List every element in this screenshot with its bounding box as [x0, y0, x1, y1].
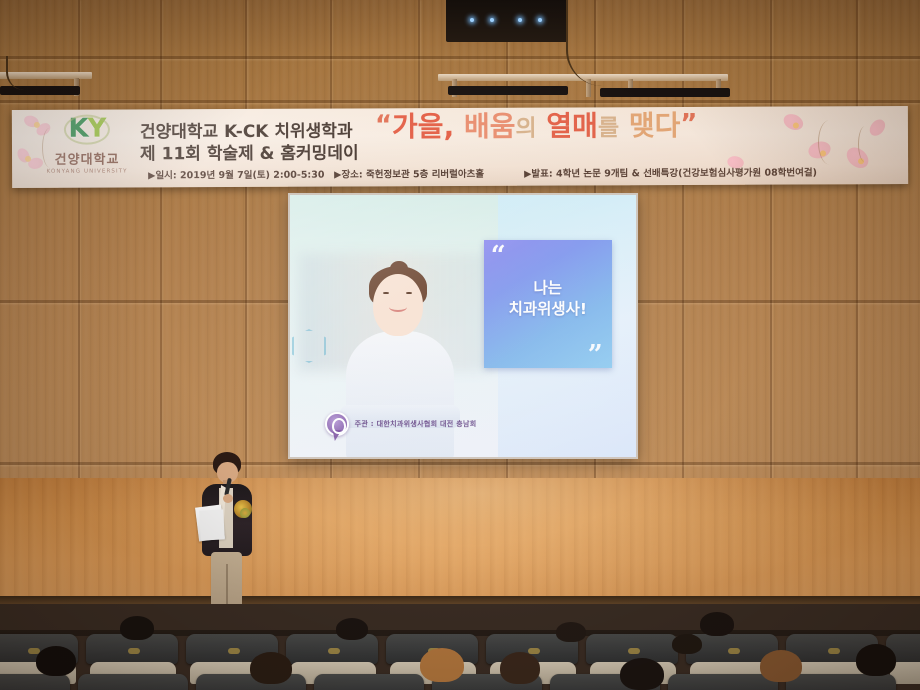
seat-badge	[728, 648, 740, 654]
model-smile	[389, 301, 408, 311]
audience-head	[856, 644, 896, 676]
projection-screen: “ 나는 치과위생사! ” 주관 : 대한치과위생사협회 대전 충남회	[288, 193, 638, 459]
slogan-open-quote: “	[375, 110, 392, 140]
led-light-icon	[490, 18, 494, 22]
audience-head	[672, 634, 702, 654]
banner-info-program: ▶발표: 4학년 논문 9개팀 & 선배특강(건강보험심사평가원 08학번여걸)	[524, 164, 817, 179]
banner-title-line2: 제 11회 학술제 & 홈커밍데이	[140, 138, 359, 164]
slogan-part-6: 맺다	[629, 109, 681, 142]
audience-head	[336, 618, 368, 640]
seat-badge	[128, 648, 140, 654]
seat-badge	[828, 648, 840, 654]
stage-light-bar	[600, 88, 730, 97]
audience-head	[700, 612, 734, 636]
logo-name-kr: 건양대학교	[34, 148, 140, 167]
audience-head	[556, 622, 586, 642]
auditorium-photo: KY 건양대학교 KONYANG UNIVERSITY 건양대학교 K-CK 치…	[0, 0, 920, 690]
logo-name-en: KONYANG UNIVERSITY	[34, 168, 140, 174]
audience-seat	[314, 674, 424, 690]
slogan-close-quote: ”	[680, 109, 697, 139]
slide-footer: 주관 : 대한치과위생사협회 대전 충남회	[325, 412, 477, 436]
slide-footer-text: 주관 : 대한치과위생사협회 대전 충남회	[355, 419, 477, 429]
flower-bouquet-secondary	[240, 508, 250, 518]
audience-head	[620, 658, 664, 690]
seat-badge	[628, 648, 640, 654]
seat-badge	[228, 648, 240, 654]
slogan-part-4: 열매	[546, 109, 598, 142]
banner-info-date: ▶일시: 2019년 9월 7일(토) 2:00-5:30	[148, 167, 324, 182]
audience-head	[420, 648, 464, 682]
speaker-hand	[223, 494, 233, 503]
slide-quote-card: “ 나는 치과위생사! ”	[484, 240, 612, 368]
audience-seat	[786, 674, 896, 690]
slogan-part-2: 배움	[464, 110, 516, 143]
audience-head	[120, 616, 154, 640]
association-emblem-icon	[325, 412, 349, 436]
audience-head	[36, 646, 76, 676]
slogan-part-3: 의	[515, 116, 536, 142]
led-light-icon	[470, 18, 474, 22]
audience-head	[500, 652, 540, 684]
audience-seat	[668, 674, 778, 690]
stage-light-bar	[448, 86, 568, 95]
speaker-held-papers-back	[199, 509, 225, 540]
audience-seat	[0, 674, 70, 690]
wall-horizontal-seam	[0, 100, 920, 103]
slide-headline-line1: 나는	[484, 278, 612, 299]
ceiling-acoustic-panel	[446, 0, 568, 42]
model-torso	[346, 331, 454, 457]
slogan-part-5: 를	[598, 115, 619, 141]
slide-headline-line2: 치과위생사!	[484, 299, 612, 320]
blossom-center-icon	[793, 123, 799, 129]
audience-seat	[78, 674, 188, 690]
audience-head	[250, 652, 292, 684]
quote-close-icon: ”	[588, 342, 603, 368]
led-light-icon	[538, 18, 542, 22]
projected-slide: “ 나는 치과위생사! ” 주관 : 대한치과위생사협회 대전 충남회	[290, 195, 636, 457]
wall-horizontal-seam	[0, 462, 920, 465]
banner-info-place: ▶장소: 죽헌정보관 5층 리버럴아츠홀	[334, 166, 484, 181]
quote-open-icon: “	[491, 243, 506, 269]
wall-horizontal-seam	[0, 56, 920, 59]
slide-headline: 나는 치과위생사!	[484, 278, 612, 320]
blossom-center-icon	[25, 156, 31, 162]
audience-head	[760, 650, 802, 682]
seat-badge	[328, 648, 340, 654]
speaker-presenter	[196, 452, 258, 626]
event-banner: KY 건양대학교 KONYANG UNIVERSITY 건양대학교 K-CK 치…	[12, 106, 908, 188]
slogan-part-1: 가을,	[392, 110, 454, 143]
blossom-stem	[858, 126, 872, 162]
stage-light-bar	[0, 86, 80, 95]
blossom-stem	[818, 120, 840, 164]
led-light-icon	[518, 18, 522, 22]
konyang-university-logo: KY 건양대학교 KONYANG UNIVERSITY	[34, 115, 140, 183]
banner-slogan: “가을, 배움의 열매를 맺다”	[375, 111, 698, 142]
logo-ring-icon	[64, 115, 110, 145]
